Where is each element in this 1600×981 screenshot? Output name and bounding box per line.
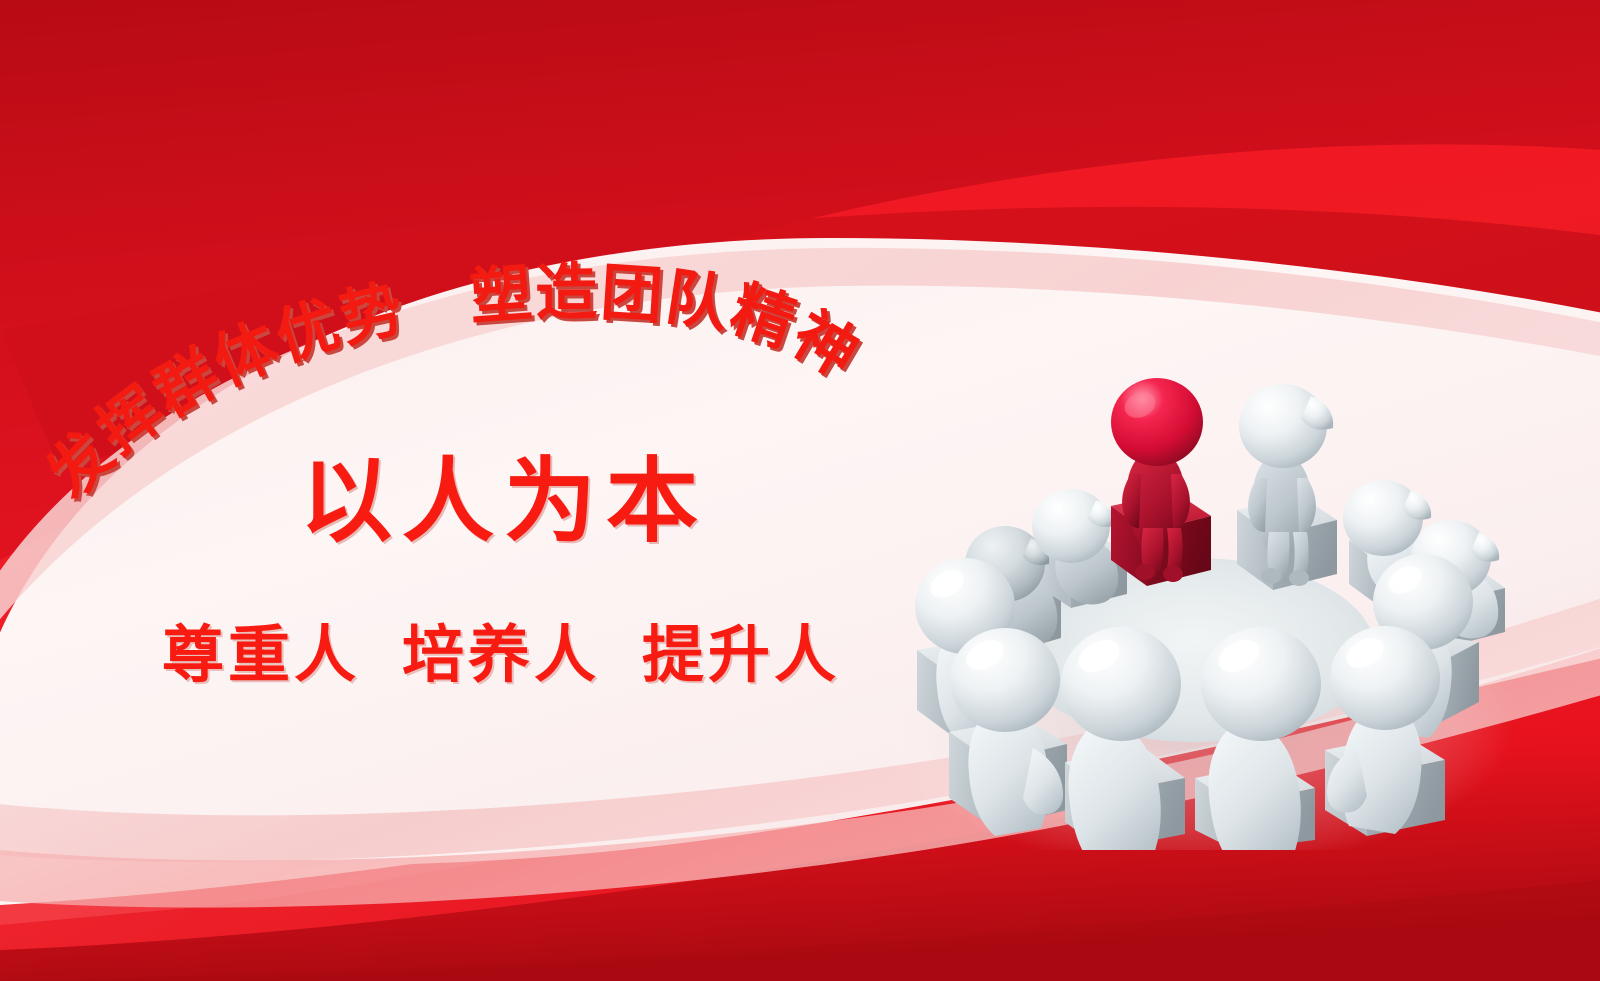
main-title: 以人为本 xyxy=(300,452,708,551)
sub-title-part-1: 尊重人 xyxy=(162,618,360,691)
team-meeting-illustration xyxy=(855,350,1535,850)
poster-canvas: 发挥群体优势 塑造团队精神 发挥群体优势 塑造团队精神 以人为本 尊重人培养人提… xyxy=(0,0,1600,981)
sub-title: 尊重人培养人提升人 xyxy=(162,604,840,694)
sub-title-part-2: 培养人 xyxy=(402,618,600,691)
sub-title-part-3: 提升人 xyxy=(642,618,840,691)
